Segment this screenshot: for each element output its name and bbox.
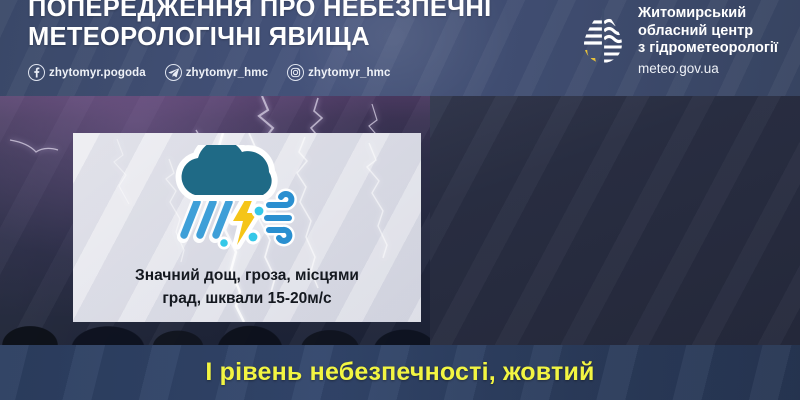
org-website-url[interactable]: meteo.gov.ua [638,59,778,78]
time-line-2: протягом доби [501,272,711,295]
time-line-3: 3 липня [501,295,711,318]
danger-level-banner: І рівень небезпечності, жовтий [0,345,800,400]
time-info-box: Ввечері 2 липня та протягом доби 3 липня [443,239,727,327]
weather-card: Значний дощ, гроза, місцями град, шквали… [73,133,421,322]
organization-block: Житомирський обласний центр з гідрометео… [577,4,778,78]
location-line-2: Житомирська [501,163,711,186]
social-instagram-label: zhytomyr_hmc [308,67,390,79]
social-instagram[interactable]: zhytomyr_hmc [287,64,390,81]
weather-caption-line-2: град, шквали 15-20м/с [73,287,421,310]
org-line-1: Житомирський [638,5,778,23]
facebook-icon [28,64,45,81]
social-telegram[interactable]: zhytomyr_hmc [165,64,268,81]
clock-icon [455,262,501,304]
header-banner: ПОПЕРЕДЖЕННЯ ПРО НЕБЕЗПЕЧНІ МЕТЕОРОЛОГІЧ… [0,0,800,96]
org-line-2: обласний центр [638,23,778,41]
social-handles: zhytomyr.pogoda zhytomyr_hmc z [28,64,390,81]
weather-warning-infographic: ПОПЕРЕДЖЕННЯ ПРО НЕБЕЗПЕЧНІ МЕТЕОРОЛОГІЧ… [0,0,800,400]
danger-level-text: І рівень небезпечності, жовтий [205,358,594,387]
org-line-3: з гідрометеорології [638,40,778,58]
time-line-1: Ввечері 2 липня та [501,249,711,272]
social-facebook-label: zhytomyr.pogoda [49,67,146,79]
telegram-icon [165,64,182,81]
location-text: м. Житомир Житомирська область [501,140,717,209]
location-line-1: м. Житомир [501,140,711,163]
water-droplet-logo [577,6,629,68]
instagram-icon [287,64,304,81]
title-line-2: МЕТЕОРОЛОГІЧНІ ЯВИЩА [28,23,498,52]
title-line-1: ПОПЕРЕДЖЕННЯ ПРО НЕБЕЗПЕЧНІ [28,0,498,23]
location-info-box: м. Житомир Житомирська область [443,133,727,215]
social-telegram-label: zhytomyr_hmc [186,67,268,79]
page-title: ПОПЕРЕДЖЕННЯ ПРО НЕБЕЗПЕЧНІ МЕТЕОРОЛОГІЧ… [28,0,498,52]
social-facebook[interactable]: zhytomyr.pogoda [28,64,146,81]
main-stage: Значний дощ, гроза, місцями град, шквали… [0,96,800,345]
weather-caption: Значний дощ, гроза, місцями град, шквали… [73,264,421,310]
time-text: Ввечері 2 липня та протягом доби 3 липня [501,249,717,318]
map-pin-icon [455,152,501,196]
thunderstorm-rain-hail-wind-icon [161,145,301,253]
location-line-3: область [501,186,711,209]
weather-caption-line-1: Значний дощ, гроза, місцями [73,264,421,287]
organization-name: Житомирський обласний центр з гідрометео… [638,4,778,78]
